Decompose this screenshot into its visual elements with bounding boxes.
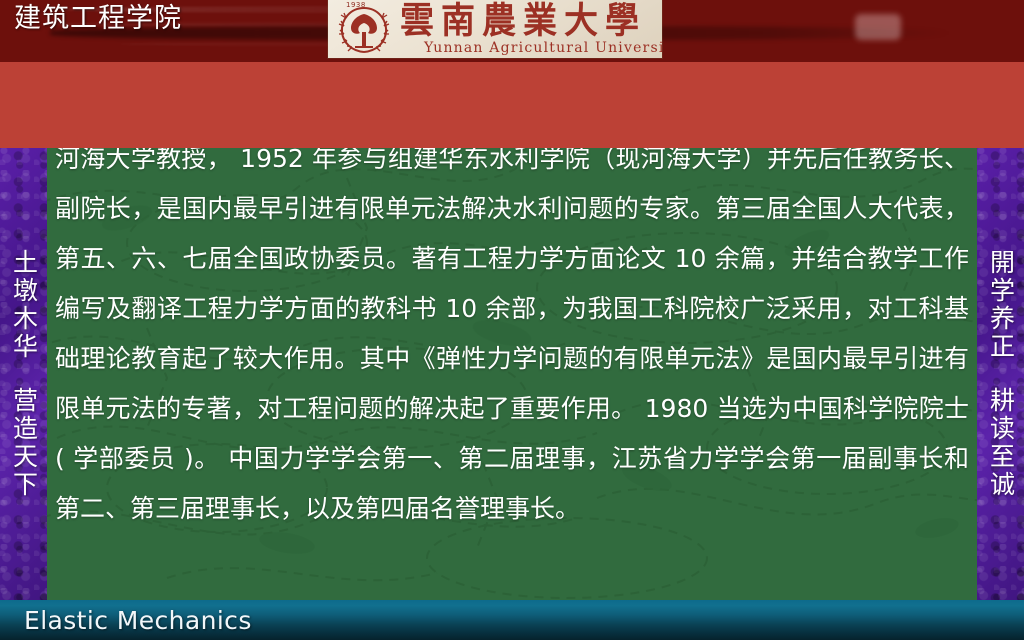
right-sidebar-motto-top: 開学养正 bbox=[986, 249, 1016, 361]
footer-bar: Elastic Mechanics bbox=[0, 600, 1024, 640]
footer-title: Elastic Mechanics bbox=[24, 605, 252, 637]
tree-in-laurel-wreath-icon bbox=[336, 2, 392, 56]
body-text-block: 河海大学教授， 1952 年参与组建华东水利学院（现河海大学）并先后任教务长、副… bbox=[47, 148, 977, 534]
left-sidebar: 土墩木华 营造天下 bbox=[0, 148, 47, 600]
department-title: 建筑工程学院 bbox=[14, 1, 182, 37]
body-paragraph: 河海大学教授， 1952 年参与组建华东水利学院（现河海大学）并先后任教务长、副… bbox=[55, 148, 969, 534]
red-band bbox=[0, 62, 1024, 148]
right-sidebar-motto-bottom: 耕读至诚 bbox=[986, 387, 1016, 499]
content-panel: 河海大学教授， 1952 年参与组建华东水利学院（现河海大学）并先后任教务长、副… bbox=[47, 148, 977, 600]
university-logo: 1938 雲南農業大學 Yunnan Agricultural Universi… bbox=[328, 0, 662, 58]
left-sidebar-motto-bottom: 营造天下 bbox=[9, 387, 39, 499]
logo-year: 1938 bbox=[346, 1, 366, 9]
logo-name-cn: 雲南農業大學 bbox=[400, 0, 646, 42]
right-sidebar: 開学养正 耕读至诚 bbox=[977, 148, 1024, 600]
logo-name-en: Yunnan Agricultural University bbox=[424, 40, 662, 56]
left-sidebar-motto-top: 土墩木华 bbox=[9, 249, 39, 361]
slide-root: 建筑工程学院 1938 bbox=[0, 0, 1024, 640]
banner-highlight-block bbox=[855, 14, 901, 40]
